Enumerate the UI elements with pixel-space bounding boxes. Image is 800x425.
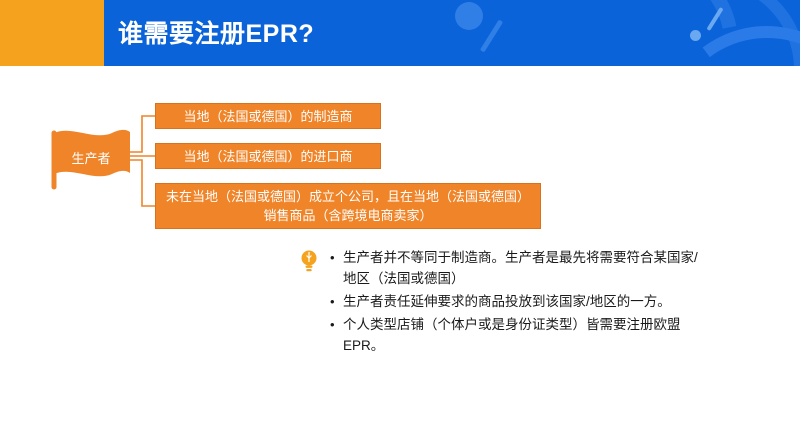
diagram-box-manufacturer: 当地（法国或德国）的制造商: [155, 103, 381, 129]
list-item-text: 个人类型店铺（个体户或是身份证类型）皆需要注册欧盟EPR。: [343, 314, 700, 356]
diagram-box-label: 未在当地（法国或德国）成立个公司，且在当地（法国或德国）销售商品（含跨境电商卖家…: [164, 187, 532, 225]
list-item-text: 生产者并不等同于制造商。生产者是最先将需要符合某国家/地区（法国或德国）: [343, 247, 700, 289]
diagram-box-cross-border-seller: 未在当地（法国或德国）成立个公司，且在当地（法国或德国）销售商品（含跨境电商卖家…: [155, 183, 541, 229]
list-item-text: 生产者责任延伸要求的商品投放到该国家/地区的一方。: [343, 291, 700, 312]
lightbulb-icon: [298, 248, 320, 274]
bullet-marker: •: [330, 314, 343, 356]
producer-label: 生产者: [56, 148, 126, 167]
diagram-box-label: 当地（法国或德国）的进口商: [183, 147, 352, 166]
list-item: • 生产者责任延伸要求的商品投放到该国家/地区的一方。: [330, 291, 700, 312]
diagram-box-label: 当地（法国或德国）的制造商: [183, 107, 352, 126]
list-item: • 生产者并不等同于制造商。生产者是最先将需要符合某国家/地区（法国或德国）: [330, 247, 700, 289]
bullet-marker: •: [330, 291, 343, 312]
slide-root: 谁需要注册EPR? 生产者 当地（法国或德国）的制造商 当地（法国或德国）的进口…: [0, 0, 800, 425]
diagram-box-importer: 当地（法国或德国）的进口商: [155, 143, 381, 169]
bullet-marker: •: [330, 247, 343, 289]
notes-list: • 生产者并不等同于制造商。生产者是最先将需要符合某国家/地区（法国或德国） •…: [330, 247, 700, 358]
list-item: • 个人类型店铺（个体户或是身份证类型）皆需要注册欧盟EPR。: [330, 314, 700, 356]
